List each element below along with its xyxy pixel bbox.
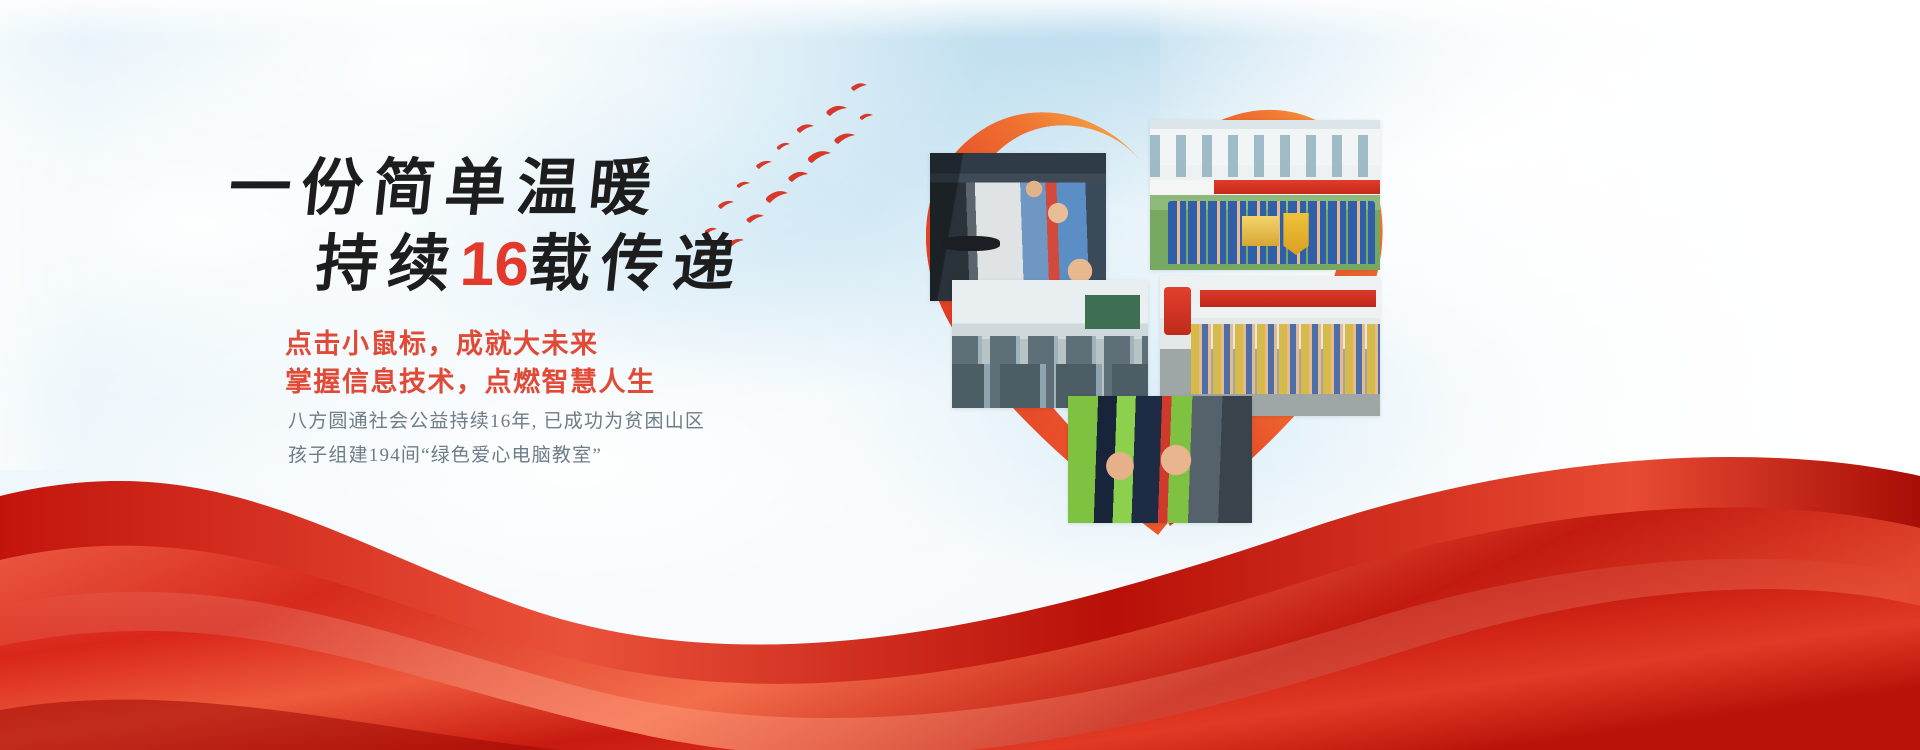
charity-banner: 一份简单温暖 持续16载传递 点击小鼠标，成就大未来 掌握信息技术，点燃智慧人生… [0,0,1920,750]
photo-computer-classroom [952,280,1148,408]
photo-school-donation-group [1150,120,1380,270]
headline: 一份简单温暖 持续16载传递 [218,158,793,296]
headline-line-1: 一份简单温暖 [225,155,664,223]
subheading-line-2: 掌握信息技术，点燃智慧人生 [285,363,656,401]
headline-line-2-suffix: 载传递 [525,231,748,299]
headline-years-number: 16 [459,234,530,296]
photo-students-computers [930,153,1106,301]
subheading-line-1: 点击小鼠标，成就大未来 [285,325,656,363]
red-ribbon-wave [0,410,1920,750]
headline-line-2-prefix: 持续 [312,231,463,299]
headline-line-2: 持续16载传递 [313,234,785,296]
subheading: 点击小鼠标，成就大未来 掌握信息技术，点燃智慧人生 [285,325,656,402]
photo-ceremony-group [1160,276,1380,416]
